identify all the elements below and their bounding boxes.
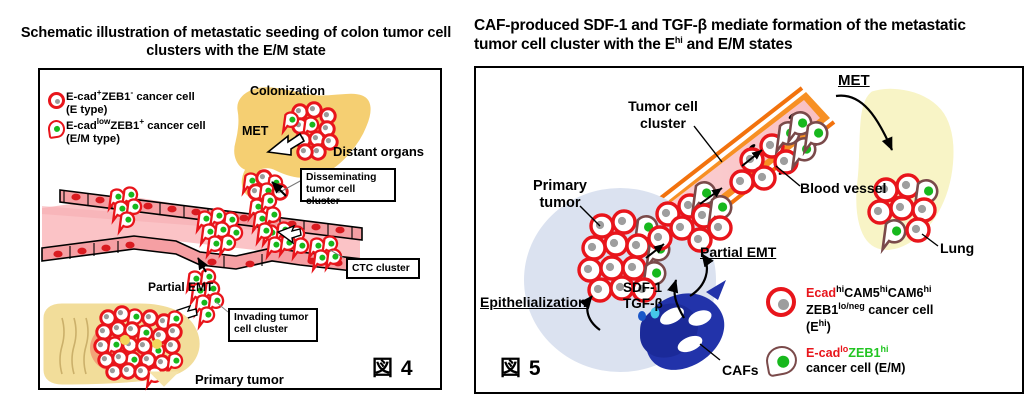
- legend-e-sub: (E type): [66, 104, 107, 116]
- legend-item-e-type: E-cad+ZEB1- cancer cell (E type): [66, 88, 246, 117]
- label-primary-tumor-right: Primary tumor: [512, 178, 608, 213]
- label-colonization: Colonization: [250, 84, 325, 98]
- right-title-sup: hi: [675, 35, 683, 45]
- legend-item-em-type: E-cadlowZEB1+ cancer cell (E/M type): [66, 117, 246, 146]
- legend-ehi-sup2: hi: [880, 284, 888, 294]
- label-tumor-cell-cluster: Tumor cell cluster: [608, 98, 718, 132]
- legend-ehi-zeb1: ZEB1: [806, 303, 838, 317]
- label-tgfb: TGF-β: [623, 296, 663, 311]
- legend-ehi-ecad: Ecad: [806, 286, 836, 300]
- callout-ctc-cluster: CTC cluster: [346, 258, 420, 279]
- legend-e-main: E-cad: [66, 91, 97, 103]
- legend-em-mid: ZEB1: [110, 120, 139, 132]
- legend-ehi-cam6: CAM6: [888, 286, 924, 300]
- figure-number-5: 図 5: [500, 352, 542, 382]
- legend-item-em-right: E-cadloZEB1hi cancer cell (E/M): [760, 344, 1010, 376]
- right-title-line2b: and E/M states: [683, 37, 793, 54]
- legend-ehi-paren: (E: [806, 320, 819, 334]
- label-epithelialization: Epithelialization: [480, 294, 587, 310]
- legend-em-cell-icon: [764, 343, 800, 377]
- label-cytokines: SDF-1 TGF-β: [623, 280, 663, 312]
- legend-ehi-paren-close: ): [827, 320, 831, 334]
- label-distant-organs: Distant organs: [333, 144, 424, 159]
- label-partial-emt-left: Partial EMT: [148, 280, 213, 294]
- label-blood-vessel: Blood vessel: [800, 180, 886, 197]
- legend-ehi-cam5: CAM5: [844, 286, 880, 300]
- legend-em-sup1: low: [97, 117, 111, 126]
- callout-disseminating-cluster: Disseminating tumor cell cluster: [300, 168, 396, 202]
- label-cafs: CAFs: [722, 362, 759, 378]
- figure-number-4: 図 4: [372, 352, 414, 382]
- label-primary-tumor-left: Primary tumor: [195, 372, 284, 387]
- legend-em-sup2: hi: [881, 344, 889, 354]
- right-panel-title: CAF-produced SDF-1 and TGF-β mediate for…: [474, 16, 1030, 55]
- legend-ehi-sup3: hi: [923, 284, 931, 294]
- legend-item-ehi: EcadhiCAM5hiCAM6hi ZEB1lo/neg cancer cel…: [760, 284, 1010, 335]
- label-met-right: MET: [838, 72, 870, 89]
- label-met-left: MET: [242, 124, 268, 138]
- legend-em-main: E-cad: [66, 120, 97, 132]
- right-title-line2a: tumor cell cluster with the E: [474, 37, 675, 54]
- left-panel-title: Schematic illustration of metastatic see…: [18, 24, 454, 60]
- callout-invading-cluster: Invading tumor cell cluster: [228, 308, 318, 342]
- legend-e-tail: cancer cell: [133, 91, 195, 103]
- legend-cell-e-icon: [48, 92, 65, 109]
- legend-ehi-zeb1-sup: lo/neg: [838, 301, 865, 311]
- label-sdf1: SDF-1: [623, 280, 662, 295]
- label-lung: Lung: [940, 240, 974, 256]
- legend-ehi-tail: cancer cell: [865, 303, 934, 317]
- legend-em-zeb1: ZEB1: [848, 346, 880, 360]
- label-partial-emt-right: Partial EMT: [700, 244, 776, 260]
- legend-em-tail: cancer cell (E/M): [806, 361, 905, 375]
- figure-canvas: Schematic illustration of metastatic see…: [0, 0, 1032, 402]
- legend-em-ecad: E-cad: [806, 346, 840, 360]
- right-title-line1: CAF-produced SDF-1 and TGF-β mediate for…: [474, 17, 966, 34]
- legend-em-sub: (E/M type): [66, 133, 120, 145]
- legend-e-mid: ZEB1: [102, 91, 131, 103]
- right-panel-legend: EcadhiCAM5hiCAM6hi ZEB1lo/neg cancer cel…: [760, 284, 1010, 384]
- legend-ehi-paren-sup: hi: [819, 318, 827, 328]
- legend-ehi-sup1: hi: [836, 284, 844, 294]
- legend-ehi-cell-icon: [766, 287, 796, 317]
- legend-em-tail: cancer cell: [144, 120, 206, 132]
